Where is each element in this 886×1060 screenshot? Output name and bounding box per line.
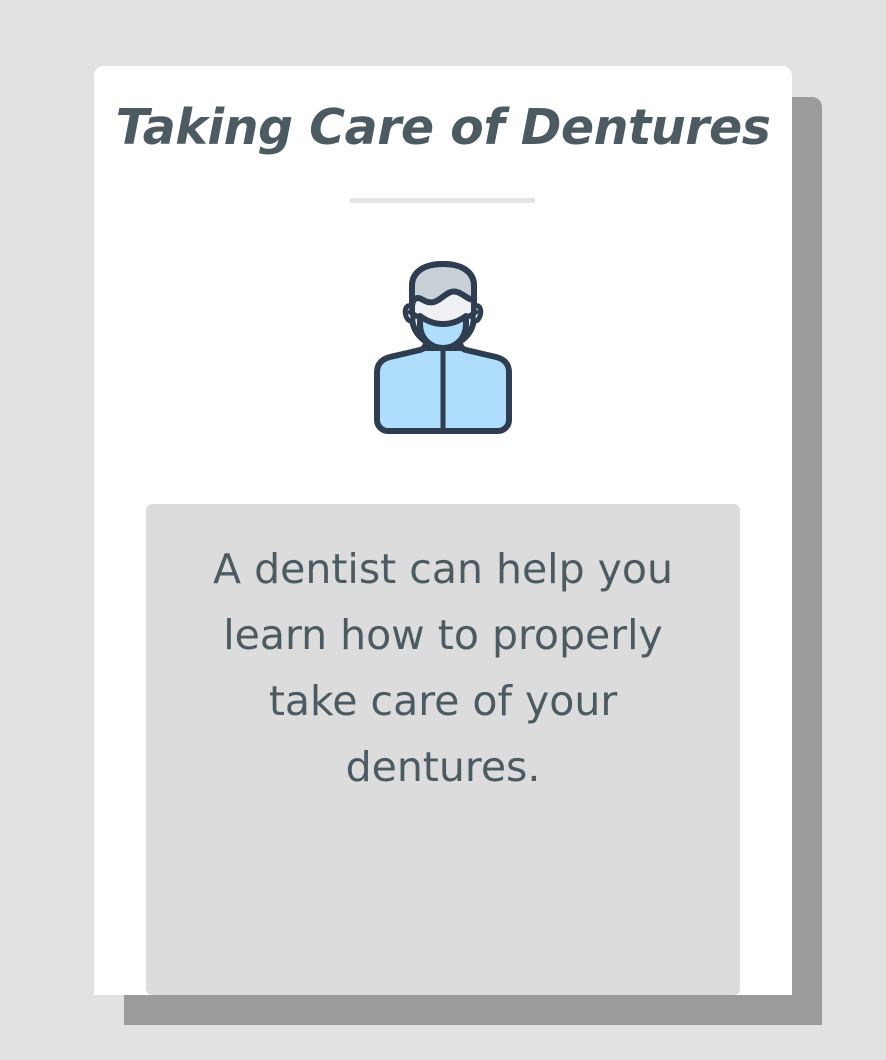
content-card: Taking Care of Dentures [94, 66, 792, 995]
body-text-panel: A dentist can help you learn how to prop… [146, 504, 740, 995]
page-title: Taking Care of Dentures [94, 99, 792, 156]
dentist-with-mask-icon-svg [368, 260, 518, 440]
title-divider [350, 198, 535, 203]
body-text: A dentist can help you learn how to prop… [186, 536, 700, 800]
dentist-with-mask-icon [368, 260, 518, 440]
slide-stage: Taking Care of Dentures [0, 0, 886, 1060]
